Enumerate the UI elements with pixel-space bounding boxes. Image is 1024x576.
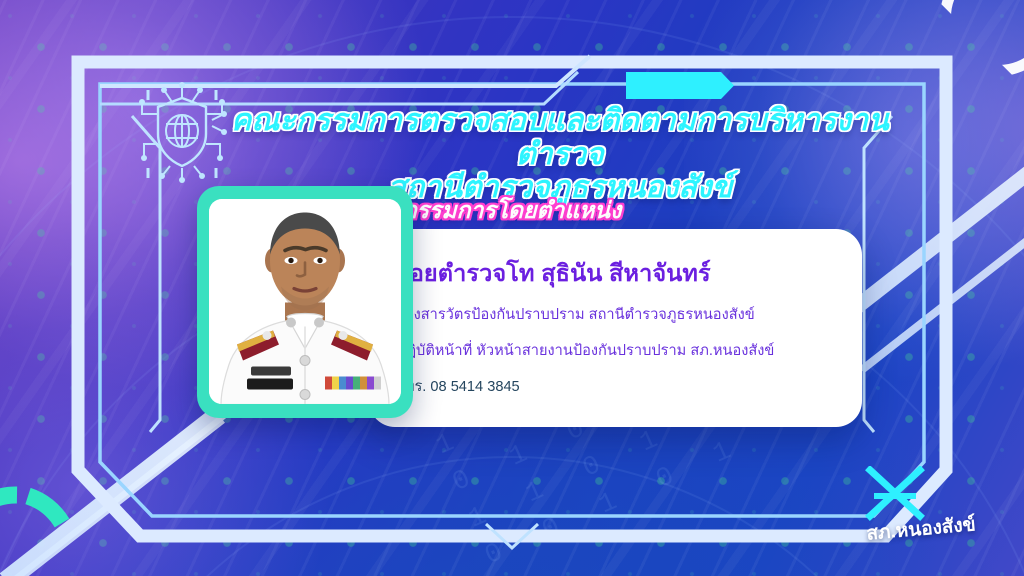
person-name: ร้อยตำรวจโท สุธินัน สีหาจันทร์ [397, 255, 832, 292]
organization-logo: สภ.หนองสังข์ [840, 466, 990, 552]
title-line-1: คณะกรรมการตรวจสอบและติดตามการบริหารงานตำ… [210, 104, 910, 171]
infographic-card: 0 1 0 1 0 1 0 1 1 0 0 1 0 0 1 1 1 0 1 0 … [0, 0, 1024, 576]
subtitle: กรรมการโดยตำแหน่ง [0, 193, 1024, 229]
person-phone: โทร. 08 5414 3845 [397, 375, 832, 398]
person-duty: ปฏิบัติหน้าที่ หัวหน้าสายงานป้องกันปราบป… [397, 339, 832, 362]
person-info-card: ร้อยตำรวจโท สุธินัน สีหาจันทร์ รองสารวัต… [369, 229, 862, 427]
avatar [197, 186, 413, 418]
subtitle-label: กรรมการโดยตำแหน่ง [403, 197, 622, 223]
person-position: รองสารวัตรป้องกันปราบปราม สถานีตำรวจภูธร… [397, 303, 832, 326]
accent-chevron-tab [626, 72, 734, 99]
portrait-photo [209, 199, 401, 404]
segmented-arc-bottom-left [0, 482, 92, 576]
